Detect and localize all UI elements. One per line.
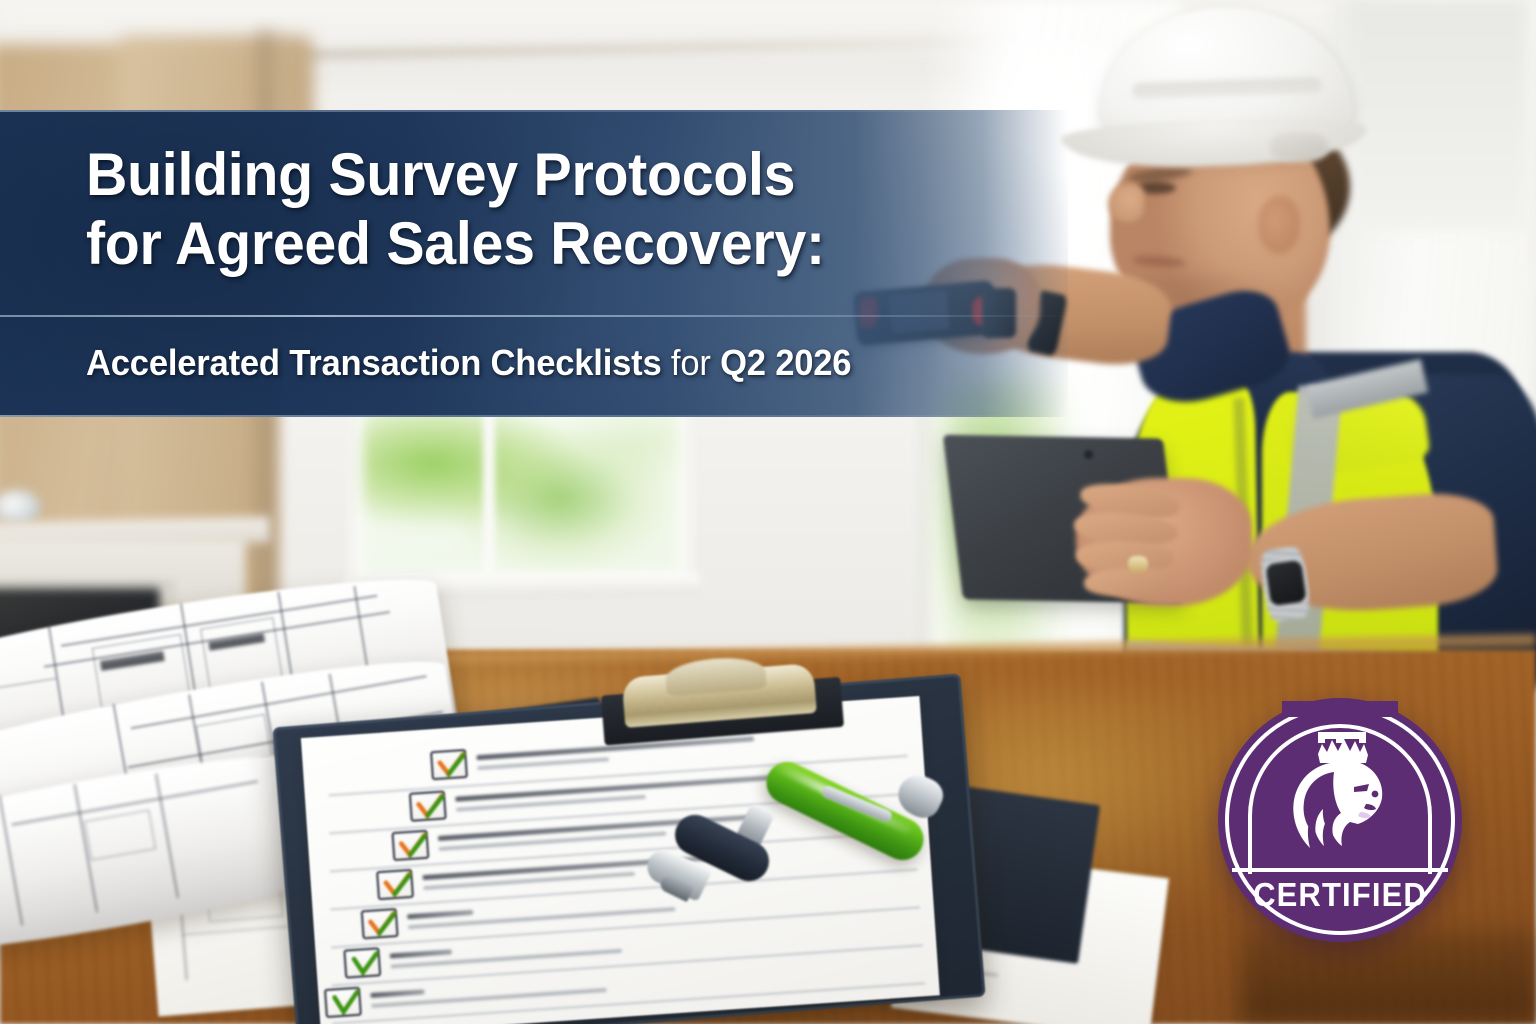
badge-divider-band (1232, 868, 1448, 872)
window-mullion (483, 407, 495, 573)
banner-bottom-rule (0, 415, 1068, 417)
banner-divider (0, 315, 1068, 317)
subtitle-part-1: Accelerated Transaction Checklists (86, 342, 662, 383)
window-glass-foliage (363, 407, 679, 573)
checkbox[interactable] (409, 790, 447, 821)
checkbox[interactable] (343, 947, 381, 978)
subtitle-part-2: Q2 2026 (720, 342, 851, 383)
poster-canvas: Building Survey Protocols for Agreed Sal… (0, 0, 1536, 1024)
checkbox[interactable] (376, 869, 414, 900)
certified-badge: CERTIFIED (1218, 698, 1462, 942)
crowned-lion-icon (1274, 732, 1406, 866)
wedding-ring (1128, 556, 1148, 572)
checkmark-icon (350, 950, 382, 979)
nose (1108, 184, 1144, 222)
hard-hat-rear-adjuster (1270, 132, 1328, 162)
title-banner: Building Survey Protocols for Agreed Sal… (0, 110, 1068, 417)
checkmark-icon (398, 833, 430, 862)
ear (1258, 196, 1300, 254)
checkmark-icon (382, 872, 414, 901)
title-line-1: Building Survey Protocols (86, 140, 825, 209)
mantel-ornament (0, 490, 40, 524)
subtitle-connector: for (662, 342, 721, 383)
banner-top-rule (0, 110, 1068, 112)
checklist-paper (301, 696, 940, 1024)
page-title: Building Survey Protocols for Agreed Sal… (86, 140, 860, 278)
checkbox[interactable] (391, 830, 429, 861)
smart-watch-face (1265, 560, 1306, 607)
checkbox[interactable] (361, 908, 399, 939)
badge-arc-break (1282, 701, 1398, 717)
badge-label: CERTIFIED (1225, 876, 1454, 914)
tablet-camera (1084, 450, 1093, 459)
title-line-2: for Agreed Sales Recovery: (86, 209, 825, 278)
desk-shadow (1240, 930, 1536, 1024)
checkbox[interactable] (430, 749, 468, 780)
checkmark-icon (330, 990, 362, 1019)
checkbox[interactable] (324, 987, 362, 1018)
checkmark-icon (367, 911, 399, 940)
page-subtitle: Accelerated Transaction Checklists for Q… (86, 341, 851, 385)
window-frame (356, 400, 686, 580)
checkmark-icon (436, 752, 468, 781)
checkmark-icon (415, 793, 447, 822)
